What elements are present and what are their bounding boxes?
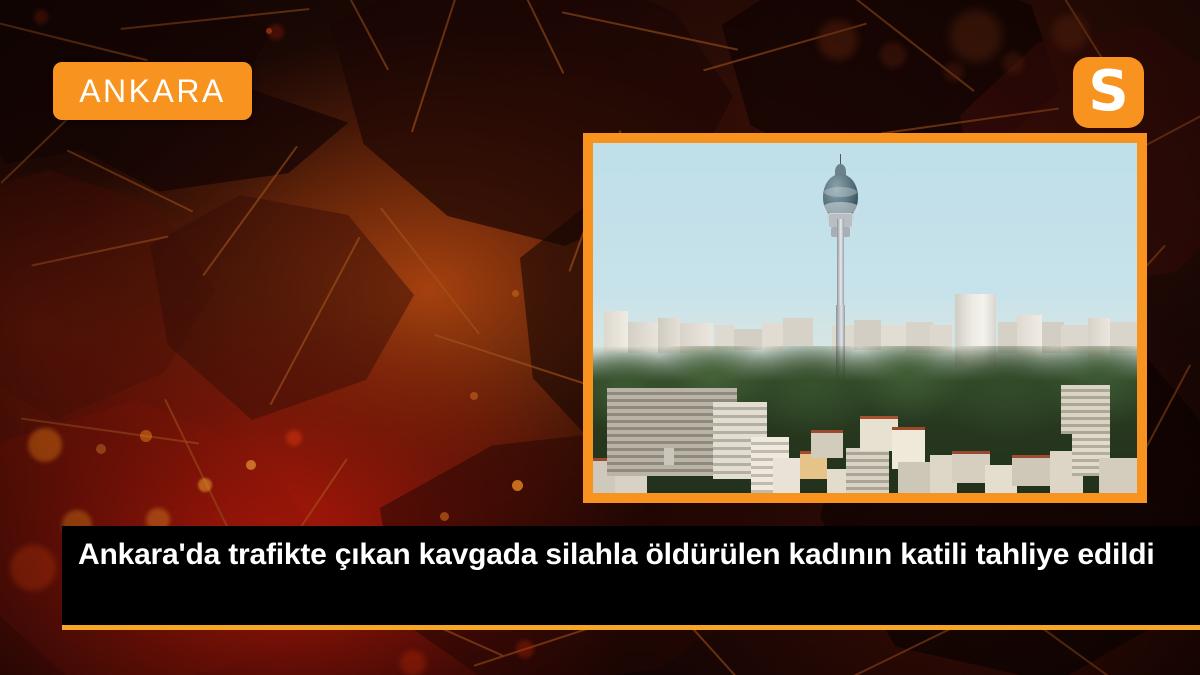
- s-logo-icon[interactable]: S: [1073, 57, 1144, 128]
- news-photo-frame: [583, 133, 1147, 503]
- headline-box: Ankara'da trafikte çıkan kavgada silahla…: [62, 526, 1200, 630]
- photo-foreground-buildings: [593, 143, 1137, 493]
- headline-text: Ankara'da trafikte çıkan kavgada silahla…: [78, 537, 1190, 574]
- headline-accent-rule: [62, 625, 1200, 630]
- city-badge-label: ANKARA: [79, 75, 226, 107]
- brand-logo-letter: S: [1088, 64, 1128, 120]
- city-badge: ANKARA: [53, 62, 252, 120]
- news-photo: [593, 143, 1137, 493]
- news-card: ANKARA S: [0, 0, 1200, 675]
